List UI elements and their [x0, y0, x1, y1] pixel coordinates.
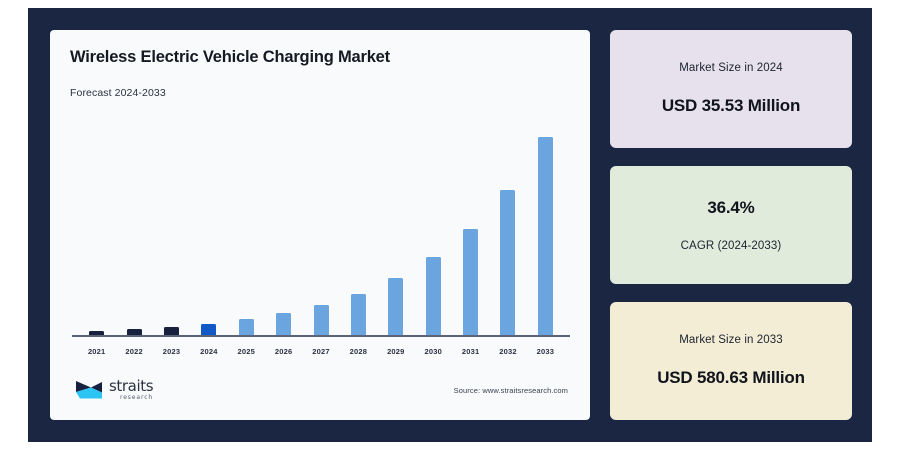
bar-column	[115, 107, 152, 336]
x-axis-label-2033: 2033	[527, 347, 564, 356]
x-axis-label-2022: 2022	[115, 347, 152, 356]
x-axis-label-2029: 2029	[377, 347, 414, 356]
bar-column	[452, 107, 489, 336]
bar-2027	[314, 305, 329, 336]
bar-2031	[463, 229, 478, 336]
bar-column	[302, 107, 339, 336]
bar-series	[78, 107, 564, 336]
stat-value-2: 36.4%	[707, 198, 754, 218]
bar-column	[153, 107, 190, 336]
stat-label-3: Market Size in 2033	[679, 334, 783, 346]
bar-column	[228, 107, 265, 336]
logo-subtitle: research	[120, 395, 153, 401]
bar-column	[415, 107, 452, 336]
x-axis-tick-labels: 2021202220232024202520262027202820292030…	[78, 347, 564, 356]
stat-value-1: USD 35.53 Million	[662, 96, 800, 116]
arrow-chevron-logo-icon	[74, 379, 104, 401]
x-axis-line	[72, 335, 570, 338]
bar-column	[265, 107, 302, 336]
stat-label-2: CAGR (2024-2033)	[681, 240, 782, 252]
x-axis-label-2027: 2027	[302, 347, 339, 356]
x-axis-label-2031: 2031	[452, 347, 489, 356]
bar-2028	[351, 294, 366, 336]
chart-footer: straits research Source: www.straitsrese…	[70, 370, 570, 410]
bar-2026	[276, 313, 291, 336]
stat-label-1: Market Size in 2024	[679, 62, 783, 74]
stat-card-3: Market Size in 2033USD 580.63 Million	[610, 302, 852, 420]
page-title: Wireless Electric Vehicle Charging Marke…	[70, 48, 570, 68]
bar-2025	[239, 319, 254, 336]
chart-card: Wireless Electric Vehicle Charging Marke…	[50, 30, 590, 420]
chart-subtitle: Forecast 2024-2033	[70, 87, 570, 99]
bar-column	[190, 107, 227, 336]
straits-research-logo: straits research	[74, 379, 153, 401]
bar-column	[489, 107, 526, 336]
x-axis-label-2024: 2024	[190, 347, 227, 356]
stat-value-3: USD 580.63 Million	[657, 368, 805, 388]
source-attribution: Source: www.straitsresearch.com	[454, 386, 568, 395]
logo-name: straits	[109, 379, 153, 394]
infographic-container: Wireless Electric Vehicle Charging Marke…	[28, 8, 872, 442]
x-axis-label-2026: 2026	[265, 347, 302, 356]
stat-cards: Market Size in 2024USD 35.53 Million36.4…	[610, 30, 852, 420]
bar-column	[527, 107, 564, 336]
bar-2032	[500, 190, 515, 336]
infographic-page: Wireless Electric Vehicle Charging Marke…	[0, 0, 900, 450]
stat-card-2: 36.4%CAGR (2024-2033)	[610, 166, 852, 284]
bar-2033	[538, 137, 553, 336]
bar-column	[377, 107, 414, 336]
bar-column	[340, 107, 377, 336]
bar-column	[78, 107, 115, 336]
x-axis-label-2030: 2030	[415, 347, 452, 356]
x-axis-label-2023: 2023	[153, 347, 190, 356]
logo-wordmark: straits research	[109, 379, 153, 401]
x-axis-label-2032: 2032	[489, 347, 526, 356]
x-axis-label-2028: 2028	[340, 347, 377, 356]
x-axis-label-2021: 2021	[78, 347, 115, 356]
stat-card-1: Market Size in 2024USD 35.53 Million	[610, 30, 852, 148]
bar-2030	[426, 257, 441, 336]
chart-plot-area: 2021202220232024202520262027202820292030…	[70, 103, 570, 370]
bar-2029	[388, 278, 403, 336]
x-axis-label-2025: 2025	[228, 347, 265, 356]
